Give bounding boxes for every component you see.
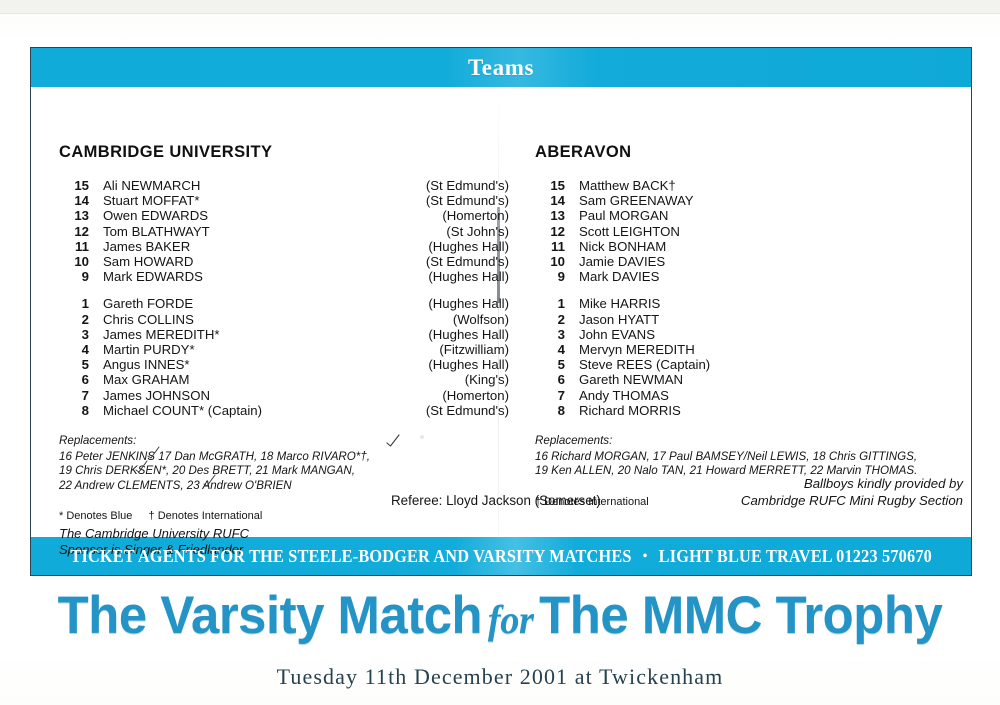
table-row: 15 Ali NEWMARCH (St Edmund's): [59, 178, 509, 193]
ballboys-line-2: Cambridge RUFC Mini Rugby Section: [741, 492, 963, 509]
table-row: 15 Matthew BACK†: [535, 178, 975, 193]
player-name: John EVANS: [565, 327, 975, 342]
player-name: Sam HOWARD: [89, 254, 416, 269]
player-name: Mark DAVIES: [565, 269, 975, 284]
table-row: 14 Sam GREENAWAY: [535, 193, 975, 208]
player-number: 2: [59, 312, 89, 327]
table-row: 2 Jason HYATT: [535, 312, 975, 327]
player-number: 7: [59, 388, 89, 403]
player-name: James JOHNSON: [89, 388, 432, 403]
player-name: Michael COUNT* (Captain): [89, 403, 416, 418]
player-number: 15: [59, 178, 89, 193]
table-row: 3 James MEREDITH* (Hughes Hall): [59, 327, 509, 342]
teams-banner-title: Teams: [468, 55, 534, 81]
cambridge-team-name: CAMBRIDGE UNIVERSITY: [59, 87, 509, 162]
player-name: Jamie DAVIES: [565, 254, 975, 269]
player-number: 10: [59, 254, 89, 269]
table-row: 7 James JOHNSON (Homerton): [59, 388, 509, 403]
table-row: 10 Jamie DAVIES: [535, 254, 975, 269]
cambridge-forwards: 1 Gareth FORDE (Hughes Hall) 2 Chris COL…: [59, 296, 509, 418]
aberavon-column: ABERAVON 15 Matthew BACK† 14 Sam GREENAW…: [535, 87, 975, 509]
teams-panel: Teams CAMBRIDGE UNIVERSITY 15 Ali NEWMAR…: [30, 47, 972, 576]
replacements-label: Replacements:: [59, 434, 509, 449]
player-number: 12: [59, 224, 89, 239]
player-number: 7: [535, 388, 565, 403]
aberavon-backs: 15 Matthew BACK† 14 Sam GREENAWAY 13 Pau…: [535, 178, 975, 284]
player-name: Andy THOMAS: [565, 388, 975, 403]
table-row: 7 Andy THOMAS: [535, 388, 975, 403]
player-number: 13: [59, 208, 89, 223]
player-name: Gareth FORDE: [89, 296, 418, 311]
sponsor-line-1: The Cambridge University RUFC: [59, 526, 509, 542]
player-name: Nick BONHAM: [565, 239, 975, 254]
player-number: 9: [535, 269, 565, 284]
player-number: 8: [535, 403, 565, 418]
player-number: 6: [59, 372, 89, 387]
player-name: Owen EDWARDS: [89, 208, 432, 223]
player-college: (King's): [455, 372, 509, 387]
table-row: 9 Mark DAVIES: [535, 269, 975, 284]
replacements-label: Replacements:: [535, 434, 975, 449]
table-row: 6 Max GRAHAM (King's): [59, 372, 509, 387]
player-name: Scott LEIGHTON: [565, 224, 975, 239]
player-college: (Homerton): [432, 388, 509, 403]
player-college: (Fitzwilliam): [429, 342, 509, 357]
player-number: 4: [535, 342, 565, 357]
player-number: 15: [535, 178, 565, 193]
player-number: 1: [59, 296, 89, 311]
table-row: 5 Angus INNES* (Hughes Hall): [59, 357, 509, 372]
headline-for-word: for: [482, 597, 539, 642]
aberavon-forwards: 1 Mike HARRIS 2 Jason HYATT 3 John EVANS…: [535, 296, 975, 418]
player-name: Mervyn MEREDITH: [565, 342, 975, 357]
table-row: 2 Chris COLLINS (Wolfson): [59, 312, 509, 327]
denotes-blue-label: * Denotes Blue: [59, 510, 132, 522]
aberavon-squad: 15 Matthew BACK† 14 Sam GREENAWAY 13 Pau…: [535, 178, 975, 418]
page-title: The Varsity MatchforThe MMC Trophy: [20, 586, 980, 650]
aberavon-replacements: Replacements: 16 Richard MORGAN, 17 Paul…: [535, 434, 975, 479]
player-college: (St Edmund's): [416, 193, 509, 208]
player-name: Matthew BACK†: [565, 178, 975, 193]
table-row: 5 Steve REES (Captain): [535, 357, 975, 372]
player-number: 6: [535, 372, 565, 387]
table-row: 10 Sam HOWARD (St Edmund's): [59, 254, 509, 269]
replacements-line: 16 Richard MORGAN, 17 Paul BAMSEY/Neil L…: [535, 450, 975, 465]
player-name: Jason HYATT: [565, 312, 975, 327]
cambridge-replacements: Replacements: 16 Peter JENKINS 17 Dan Mc…: [59, 434, 509, 493]
table-row: 13 Paul MORGAN: [535, 208, 975, 223]
player-number: 10: [535, 254, 565, 269]
replacements-line: 19 Chris DERKSEN*, 20 Des BRETT, 21 Mark…: [59, 464, 509, 479]
table-row: 4 Mervyn MEREDITH: [535, 342, 975, 357]
player-number: 14: [535, 193, 565, 208]
headline-part-1: The Varsity Match: [58, 586, 482, 645]
bullet-separator: •: [631, 549, 658, 564]
player-number: 14: [59, 193, 89, 208]
cambridge-column: CAMBRIDGE UNIVERSITY 15 Ali NEWMARCH (St…: [59, 87, 509, 558]
player-number: 11: [535, 239, 565, 254]
player-name: Steve REES (Captain): [565, 357, 975, 372]
table-row: 8 Richard MORRIS: [535, 403, 975, 418]
ticket-agents-text: TICKET AGENTS FOR THE STEELE-BODGER AND …: [70, 546, 932, 567]
table-row: 14 Stuart MOFFAT* (St Edmund's): [59, 193, 509, 208]
player-number: 11: [59, 239, 89, 254]
match-date-line: Tuesday 11th December 2001 at Twickenham: [0, 664, 1000, 690]
player-number: 1: [535, 296, 565, 311]
cambridge-denotes-key: * Denotes Blue † Denotes International: [59, 509, 509, 523]
table-row: 11 Nick BONHAM: [535, 239, 975, 254]
player-name: James BAKER: [89, 239, 418, 254]
player-number: 3: [59, 327, 89, 342]
scan-speck: [420, 435, 424, 439]
denotes-international-label: † Denotes International: [149, 510, 263, 522]
player-college: (Hughes Hall): [418, 327, 509, 342]
player-college: (St Edmund's): [416, 254, 509, 269]
player-name: Richard MORRIS: [565, 403, 975, 418]
player-college: (St Edmund's): [416, 403, 509, 418]
referee-line: Referee: Lloyd Jackson (Somerset): [391, 493, 601, 508]
table-row: 6 Gareth NEWMAN: [535, 372, 975, 387]
teams-banner: Teams: [31, 48, 971, 87]
table-row: 9 Mark EDWARDS (Hughes Hall): [59, 269, 509, 284]
player-name: Mark EDWARDS: [89, 269, 418, 284]
player-name: Max GRAHAM: [89, 372, 455, 387]
table-row: 4 Martin PURDY* (Fitzwilliam): [59, 342, 509, 357]
headline-part-2: The MMC Trophy: [539, 586, 942, 645]
player-college: (Wolfson): [443, 312, 509, 327]
table-row: 12 Scott LEIGHTON: [535, 224, 975, 239]
player-college: (Hughes Hall): [418, 296, 509, 311]
player-name: Angus INNES*: [89, 357, 418, 372]
table-row: 1 Gareth FORDE (Hughes Hall): [59, 296, 509, 311]
scan-top-edge: [0, 0, 1000, 14]
table-row: 8 Michael COUNT* (Captain) (St Edmund's): [59, 403, 509, 418]
player-college: (Hughes Hall): [418, 239, 509, 254]
player-name: Paul MORGAN: [565, 208, 975, 223]
player-college: (St Edmund's): [416, 178, 509, 193]
player-number: 3: [535, 327, 565, 342]
table-row: 1 Mike HARRIS: [535, 296, 975, 311]
aberavon-team-name: ABERAVON: [535, 87, 975, 162]
player-college: (Homerton): [432, 208, 509, 223]
player-college: (Hughes Hall): [418, 269, 509, 284]
ballboys-line-1: Ballboys kindly provided by: [741, 475, 963, 492]
player-name: Chris COLLINS: [89, 312, 443, 327]
player-number: 5: [59, 357, 89, 372]
cambridge-backs: 15 Ali NEWMARCH (St Edmund's) 14 Stuart …: [59, 178, 509, 284]
player-number: 9: [59, 269, 89, 284]
ticket-agents-right-text: LIGHT BLUE TRAVEL 01223 570670: [658, 546, 931, 566]
ticket-agents-left-text: TICKET AGENTS FOR THE STEELE-BODGER AND …: [70, 546, 631, 566]
teams-body: CAMBRIDGE UNIVERSITY 15 Ali NEWMARCH (St…: [31, 87, 971, 536]
player-name: Sam GREENAWAY: [565, 193, 975, 208]
player-number: 5: [535, 357, 565, 372]
table-row: 12 Tom BLATHWAYT (St John's): [59, 224, 509, 239]
cambridge-squad: 15 Ali NEWMARCH (St Edmund's) 14 Stuart …: [59, 178, 509, 418]
table-row: 11 James BAKER (Hughes Hall): [59, 239, 509, 254]
player-number: 8: [59, 403, 89, 418]
player-number: 4: [59, 342, 89, 357]
replacements-line: 16 Peter JENKINS 17 Dan McGRATH, 18 Marc…: [59, 450, 509, 465]
player-college: (St John's): [436, 224, 509, 239]
replacements-line: 22 Andrew CLEMENTS, 23 Andrew O'BRIEN: [59, 479, 509, 494]
scan-speck: [871, 479, 874, 482]
player-name: Martin PURDY*: [89, 342, 429, 357]
player-number: 2: [535, 312, 565, 327]
player-name: Gareth NEWMAN: [565, 372, 975, 387]
player-name: Tom BLATHWAYT: [89, 224, 436, 239]
player-number: 12: [535, 224, 565, 239]
ballboys-note: Ballboys kindly provided by Cambridge RU…: [741, 475, 963, 509]
player-name: Mike HARRIS: [565, 296, 975, 311]
player-name: James MEREDITH*: [89, 327, 418, 342]
player-name: Ali NEWMARCH: [89, 178, 416, 193]
player-name: Stuart MOFFAT*: [89, 193, 416, 208]
table-row: 3 John EVANS: [535, 327, 975, 342]
table-row: 13 Owen EDWARDS (Homerton): [59, 208, 509, 223]
player-number: 13: [535, 208, 565, 223]
player-college: (Hughes Hall): [418, 357, 509, 372]
